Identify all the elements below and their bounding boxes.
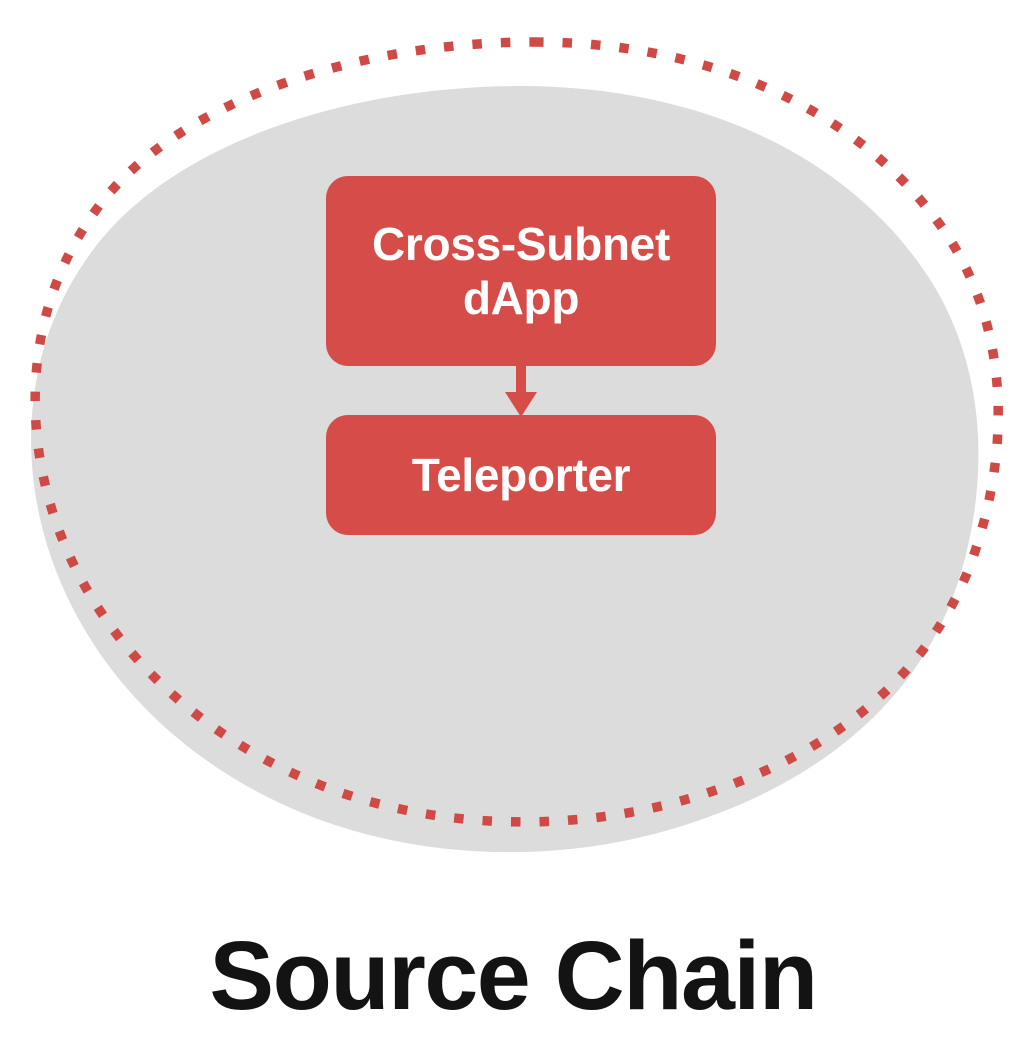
diagram-canvas: Cross-Subnet dApp Teleporter Source Chai… [0,0,1026,1054]
node-teleporter[interactable]: Teleporter [326,415,716,535]
node-label-teleporter: Teleporter [344,448,698,502]
diagram-title: Source Chain [0,925,1026,1027]
node-cross-subnet-dapp[interactable]: Cross-Subnet dApp [326,176,716,366]
node-label-cross-subnet-dapp: Cross-Subnet dApp [344,217,698,326]
